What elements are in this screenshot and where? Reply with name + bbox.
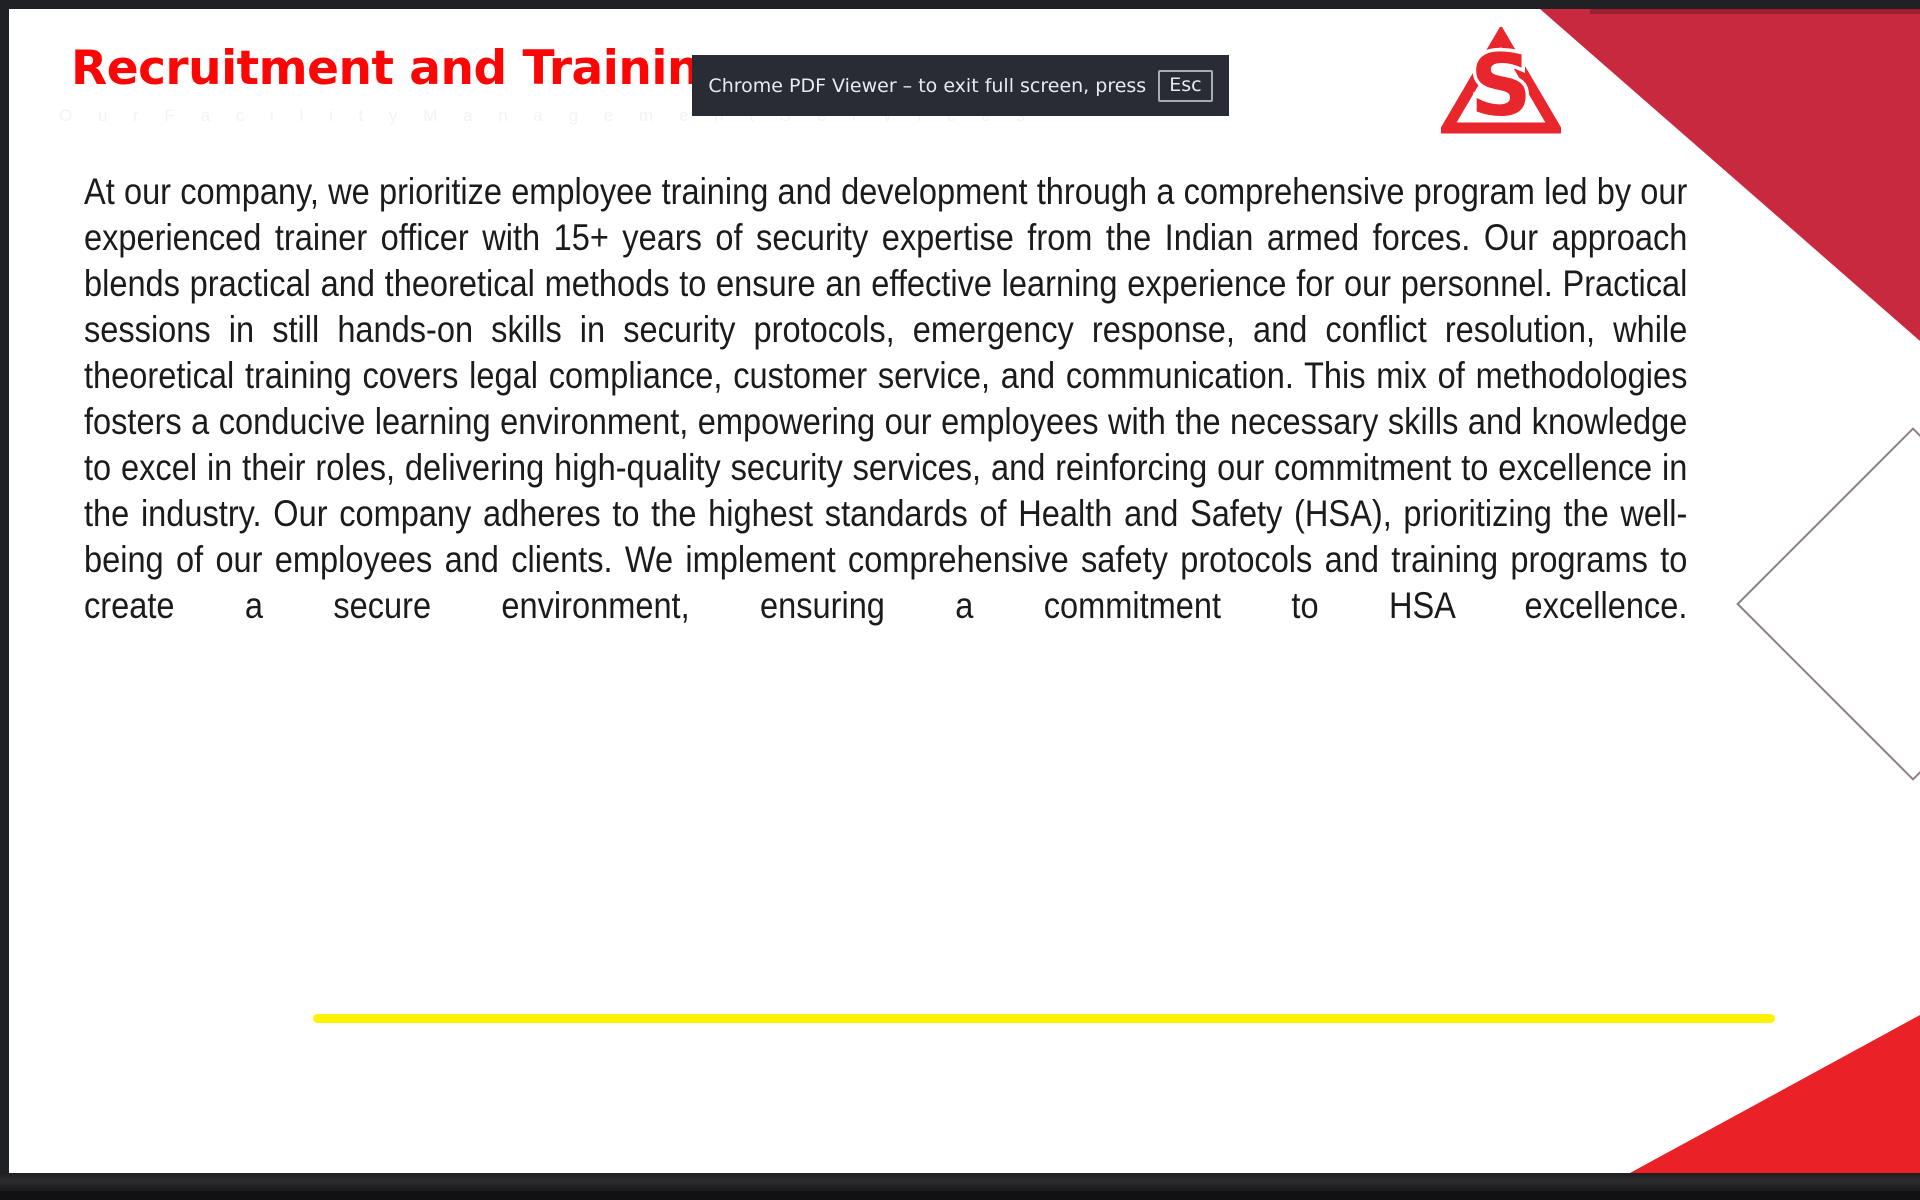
viewer-left-chrome-bar <box>0 0 9 1200</box>
pdf-slide-page: Recruitment and Training O u r F a c i l… <box>9 9 1920 1173</box>
slide-body-paragraph: At our company, we prioritize employee t… <box>84 169 1687 675</box>
viewer-top-chrome-bar <box>0 0 1920 9</box>
fullscreen-toast-message: Chrome PDF Viewer – to exit full screen,… <box>708 75 1146 97</box>
browser-fullscreen-frame: Recruitment and Training O u r F a c i l… <box>0 0 1920 1200</box>
decorative-bottom-right-red-triangle <box>1630 1015 1920 1173</box>
esc-key-badge: Esc <box>1158 70 1212 102</box>
decorative-chevron-outline <box>1736 427 1920 781</box>
viewer-bottom-chrome-bar <box>0 1173 1920 1191</box>
viewer-bottom-chrome-bar-shadow <box>0 1191 1920 1200</box>
svg-text:S: S <box>1470 36 1532 136</box>
triangle-s-logo-icon: S <box>1441 27 1561 137</box>
page-title: Recruitment and Training <box>71 41 733 96</box>
fullscreen-exit-toast: Chrome PDF Viewer – to exit full screen,… <box>692 55 1229 116</box>
company-logo: S <box>1441 27 1561 137</box>
decorative-yellow-rule <box>313 1014 1775 1023</box>
